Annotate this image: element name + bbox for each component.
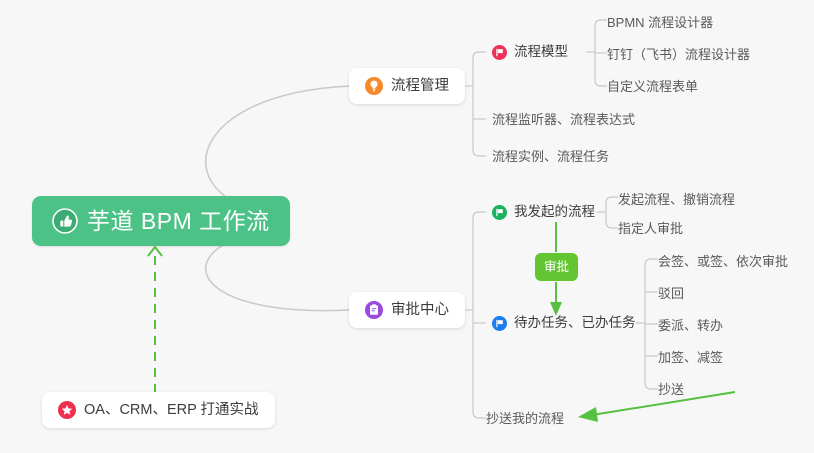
leaf-label: 驳回 [658, 287, 684, 300]
leaf-node-designated-approver[interactable]: 指定人审批 [618, 216, 683, 240]
thumbs-up-icon [52, 208, 78, 234]
leaf-node-bpmn-designer[interactable]: BPMN 流程设计器 [607, 10, 713, 34]
root-label: 芋道 BPM 工作流 [87, 210, 270, 233]
flag-blue-icon [492, 316, 507, 331]
leaf-node-dingtalk-feishu-designer[interactable]: 钉钉（飞书）流程设计器 [607, 42, 750, 66]
root-node[interactable]: 芋道 BPM 工作流 [32, 196, 290, 246]
flag-red-icon [492, 45, 507, 60]
branch-node-approval-center[interactable]: 审批中心 [349, 292, 465, 328]
edge-ac-bracket [473, 212, 486, 418]
leaf-label: 钉钉（飞书）流程设计器 [607, 48, 750, 61]
floating-node-oa-crm-erp[interactable]: OA、CRM、ERP 打通实战 [42, 392, 275, 428]
topic-label-todo-done-tasks: 待办任务、已办任务 [514, 316, 636, 330]
edge-model-bracket [595, 20, 607, 86]
leaf-label: 流程实例、流程任务 [492, 150, 609, 163]
leaf-node-instance-task[interactable]: 流程实例、流程任务 [492, 144, 609, 168]
leaf-label: 加签、减签 [658, 351, 723, 364]
leaf-node-start-cancel-process[interactable]: 发起流程、撤销流程 [618, 187, 735, 211]
badge-label: 审批 [544, 261, 569, 274]
leaf-node-add-remove-sign[interactable]: 加签、减签 [658, 345, 723, 369]
branch-label-process-management: 流程管理 [391, 79, 449, 94]
arrowhead-oa-to-root [148, 247, 162, 256]
leaf-node-reject[interactable]: 驳回 [658, 281, 684, 305]
flag-green-icon [492, 205, 507, 220]
leaf-node-cc-my-process[interactable]: 抄送我的流程 [486, 406, 564, 430]
leaf-node-listener-expression[interactable]: 流程监听器、流程表达式 [492, 107, 635, 131]
topic-node-todo-done-tasks[interactable]: 待办任务、已办任务 [492, 310, 636, 336]
leaf-label: 发起流程、撤销流程 [618, 193, 735, 206]
edge-mine-bracket [606, 197, 618, 228]
edge-todo-bracket [645, 259, 658, 389]
floating-label-oa-crm-erp: OA、CRM、ERP 打通实战 [84, 403, 259, 418]
leaf-label: 流程监听器、流程表达式 [492, 113, 635, 126]
topic-label-process-model: 流程模型 [514, 45, 568, 59]
edge-pm-bracket [473, 52, 486, 156]
star-icon [58, 401, 76, 419]
leaf-label: BPMN 流程设计器 [607, 16, 713, 29]
branch-label-approval-center: 审批中心 [391, 303, 449, 318]
leaf-label: 抄送我的流程 [486, 412, 564, 425]
leaf-label: 抄送 [658, 383, 684, 396]
leaf-label: 会签、或签、依次审批 [658, 255, 788, 268]
topic-node-process-model[interactable]: 流程模型 [492, 39, 568, 65]
leaf-node-delegate-transfer[interactable]: 委派、转办 [658, 313, 723, 337]
leaf-node-cc[interactable]: 抄送 [658, 377, 684, 401]
arrowhead-cc-to-cc-my-process [578, 407, 598, 422]
leaf-label: 指定人审批 [618, 222, 683, 235]
badge-node-approval[interactable]: 审批 [535, 253, 578, 281]
leaf-node-custom-process-form[interactable]: 自定义流程表单 [607, 74, 698, 98]
mindmap-canvas: 芋道 BPM 工作流 流程管理 流程模型 BPMN 流程设计器 钉钉（飞书）流程… [0, 0, 814, 453]
leaf-label: 委派、转办 [658, 319, 723, 332]
leaf-label: 自定义流程表单 [607, 80, 698, 93]
leaf-node-countersign[interactable]: 会签、或签、依次审批 [658, 249, 788, 273]
topic-label-my-initiated-processes: 我发起的流程 [514, 205, 595, 219]
clipboard-icon [365, 301, 383, 319]
lightbulb-icon [365, 77, 383, 95]
branch-node-process-management[interactable]: 流程管理 [349, 68, 465, 104]
topic-node-my-initiated-processes[interactable]: 我发起的流程 [492, 199, 595, 225]
